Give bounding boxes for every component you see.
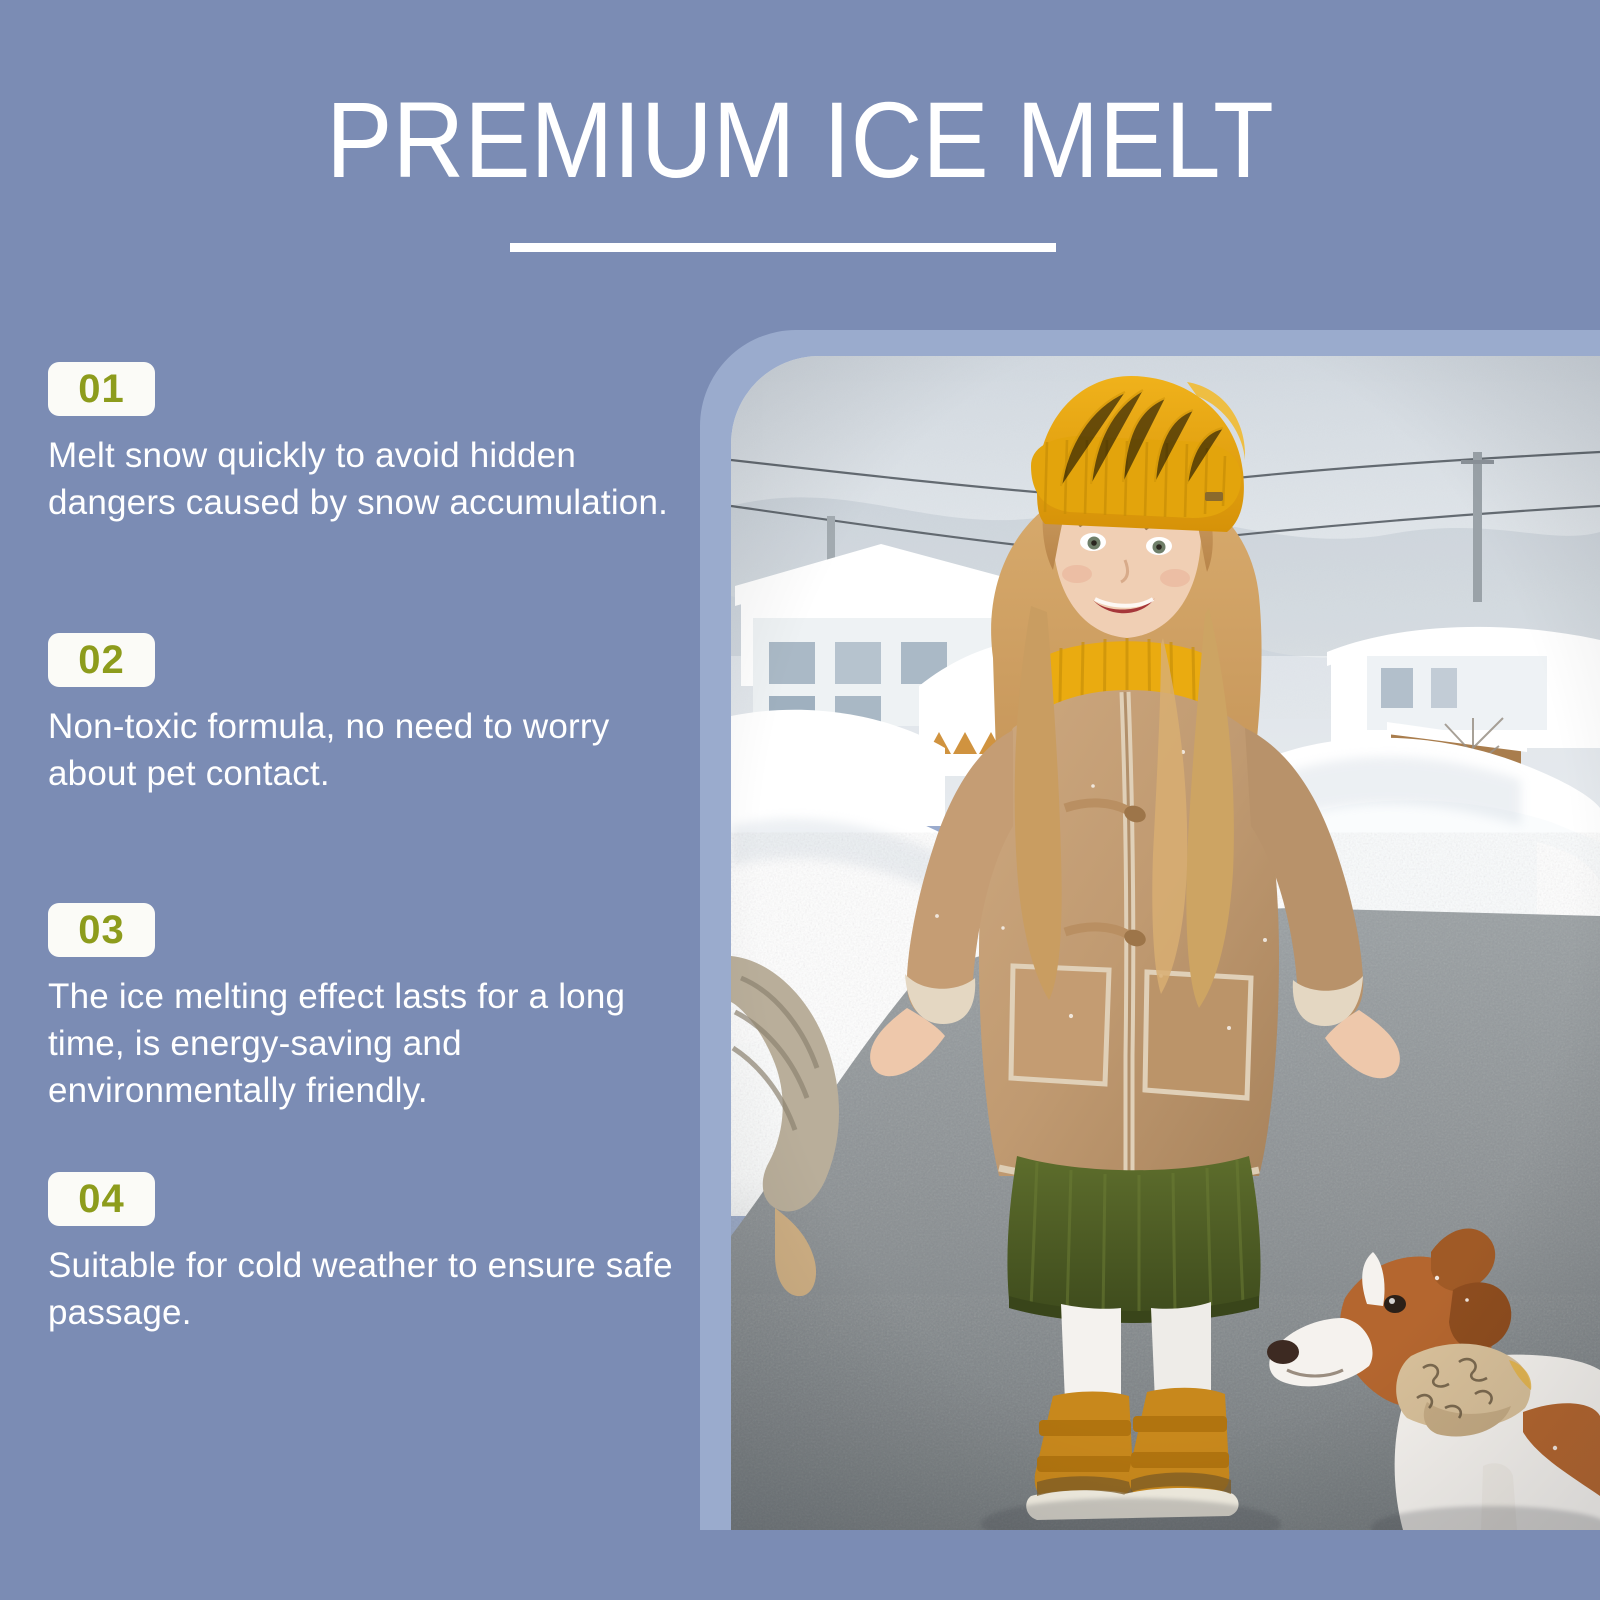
photo-vignette [731,356,1600,1530]
feature-number-badge-01: 01 [48,362,155,416]
header: PREMIUM ICE MELT [0,0,1600,300]
title-underline-rule [510,243,1056,252]
winter-scene-illustration [731,356,1600,1530]
feature-item-01: 01 Melt snow quickly to avoid hidden dan… [48,362,688,526]
product-scene-photo [731,356,1600,1530]
feature-item-03: 03 The ice melting effect lasts for a lo… [48,903,688,1114]
feature-number-badge-04: 04 [48,1172,155,1226]
feature-number-badge-02: 02 [48,633,155,687]
infographic-page: PREMIUM ICE MELT 01 Melt snow quickly to… [0,0,1600,1600]
feature-text-04: Suitable for cold weather to ensure safe… [48,1242,688,1336]
feature-text-03: The ice melting effect lasts for a long … [48,973,688,1114]
feature-text-01: Melt snow quickly to avoid hidden danger… [48,432,688,526]
page-title: PREMIUM ICE MELT [64,86,1536,194]
feature-list: 01 Melt snow quickly to avoid hidden dan… [0,300,700,1600]
feature-text-02: Non-toxic formula, no need to worry abou… [48,703,688,797]
feature-number-badge-03: 03 [48,903,155,957]
feature-item-04: 04 Suitable for cold weather to ensure s… [48,1172,688,1336]
feature-item-02: 02 Non-toxic formula, no need to worry a… [48,633,688,797]
